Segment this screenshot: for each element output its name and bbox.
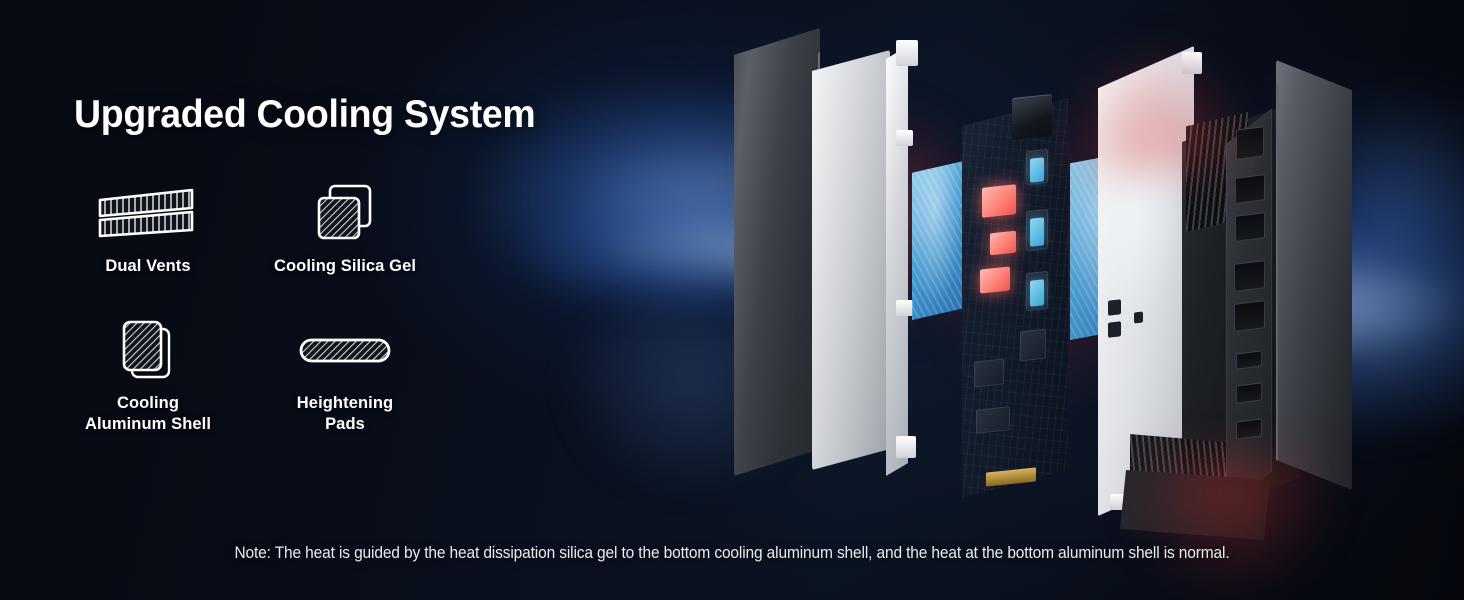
shell-cutout — [1108, 299, 1121, 316]
io-port — [1235, 212, 1265, 242]
silver-shell-edge — [886, 46, 908, 476]
board-connector — [1030, 157, 1044, 182]
hero-background: Upgraded Cooling System — [0, 0, 1464, 600]
feature-label: Dual Vents — [105, 256, 190, 277]
feature-row-1: Dual Vents — [74, 182, 494, 277]
chassis-foot — [1120, 470, 1270, 540]
heightening-pads-icon — [298, 319, 392, 381]
page-title: Upgraded Cooling System — [74, 93, 535, 137]
left-content-column: Upgraded Cooling System — [0, 0, 520, 600]
hot-chip — [990, 231, 1016, 256]
io-port — [1236, 382, 1262, 403]
dual-vents-icon — [96, 182, 200, 244]
feature-item-heightening-pads: HeighteningPads — [256, 319, 434, 435]
board-connector — [1030, 217, 1044, 246]
feature-label: HeighteningPads — [297, 393, 393, 435]
feature-grid: Dual Vents — [74, 182, 494, 434]
hot-chip — [980, 266, 1010, 293]
motherboard — [962, 98, 1068, 498]
shell-tab — [896, 436, 916, 458]
feature-item-dual-vents: Dual Vents — [74, 182, 222, 277]
footnote-text: Note: The heat is guided by the heat dis… — [44, 544, 1420, 563]
hot-chip — [982, 184, 1016, 218]
feature-label: Cooling Silica Gel — [274, 256, 416, 277]
top-connector-block — [1012, 94, 1052, 140]
io-port — [1236, 350, 1262, 369]
shell-tab — [896, 130, 913, 146]
feature-item-aluminum-shell: CoolingAluminum Shell — [74, 319, 222, 435]
silica-gel-icon — [314, 182, 376, 244]
feature-row-2: CoolingAluminum Shell — [74, 319, 494, 435]
io-port — [1236, 126, 1264, 159]
product-exploded-view — [690, 0, 1390, 600]
shell-tab — [1182, 52, 1202, 74]
silver-aluminum-shell — [812, 50, 890, 470]
io-port — [1234, 300, 1265, 332]
aluminum-shell-icon — [119, 319, 177, 381]
shell-cutout — [1108, 321, 1121, 338]
shell-cutout — [1134, 311, 1143, 323]
board-component — [1020, 329, 1046, 362]
feature-label: CoolingAluminum Shell — [85, 393, 211, 435]
blue-silica-gel-pad — [912, 160, 968, 320]
board-component — [974, 358, 1004, 387]
io-port — [1236, 418, 1262, 439]
io-port — [1235, 174, 1265, 204]
board-component — [976, 406, 1010, 434]
board-connector — [1030, 279, 1044, 306]
shell-tab — [896, 300, 913, 316]
shell-tab — [896, 40, 918, 66]
outer-dark-panel — [734, 28, 820, 476]
io-port — [1234, 260, 1265, 292]
feature-item-silica-gel: Cooling Silica Gel — [256, 182, 434, 277]
far-outer-panel — [1276, 60, 1352, 490]
